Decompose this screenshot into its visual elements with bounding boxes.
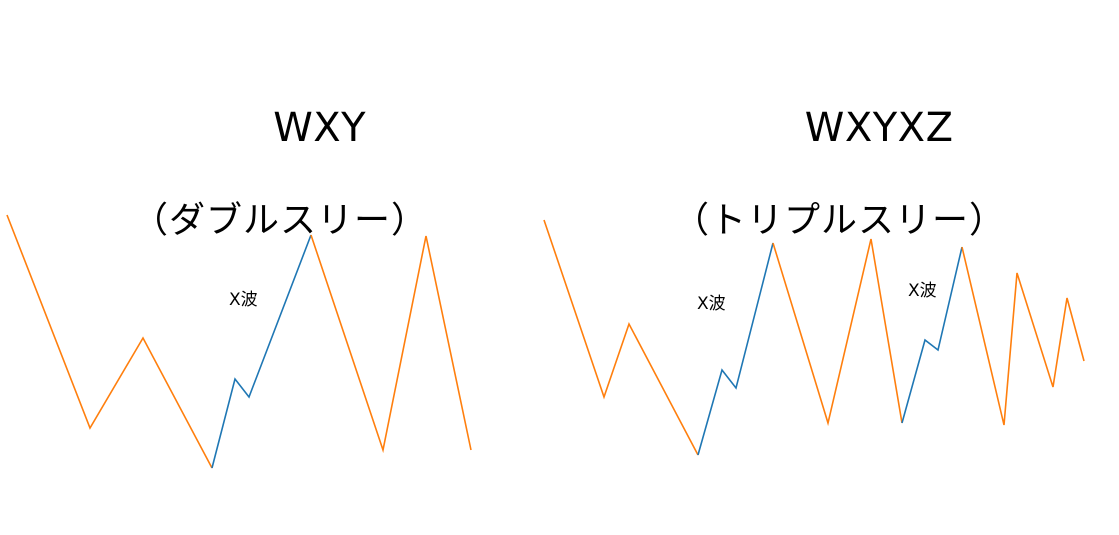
wave-segment-wxy-x: [212, 235, 311, 468]
wave-segment-wxy-w: [7, 215, 212, 468]
wave-segment-wxyxz-y: [773, 239, 902, 423]
wave-pattern-figure: WXY （ダブルスリー） WXYXZ （トリプルスリー） X波 X波 X波: [0, 0, 1119, 535]
wave-segment-wxyxz-w: [544, 220, 698, 455]
wave-chart-canvas: [0, 0, 1119, 535]
x-wave-label-right-second: X波: [908, 283, 937, 300]
wave-segment-wxy-y: [311, 235, 471, 450]
wave-segment-wxyxz-x1: [698, 243, 773, 455]
wave-segment-wxyxz-x2: [902, 247, 962, 423]
x-wave-label-left: X波: [229, 292, 258, 309]
wave-segment-wxyxz-z: [962, 247, 1084, 425]
x-wave-label-right-first: X波: [697, 296, 726, 313]
